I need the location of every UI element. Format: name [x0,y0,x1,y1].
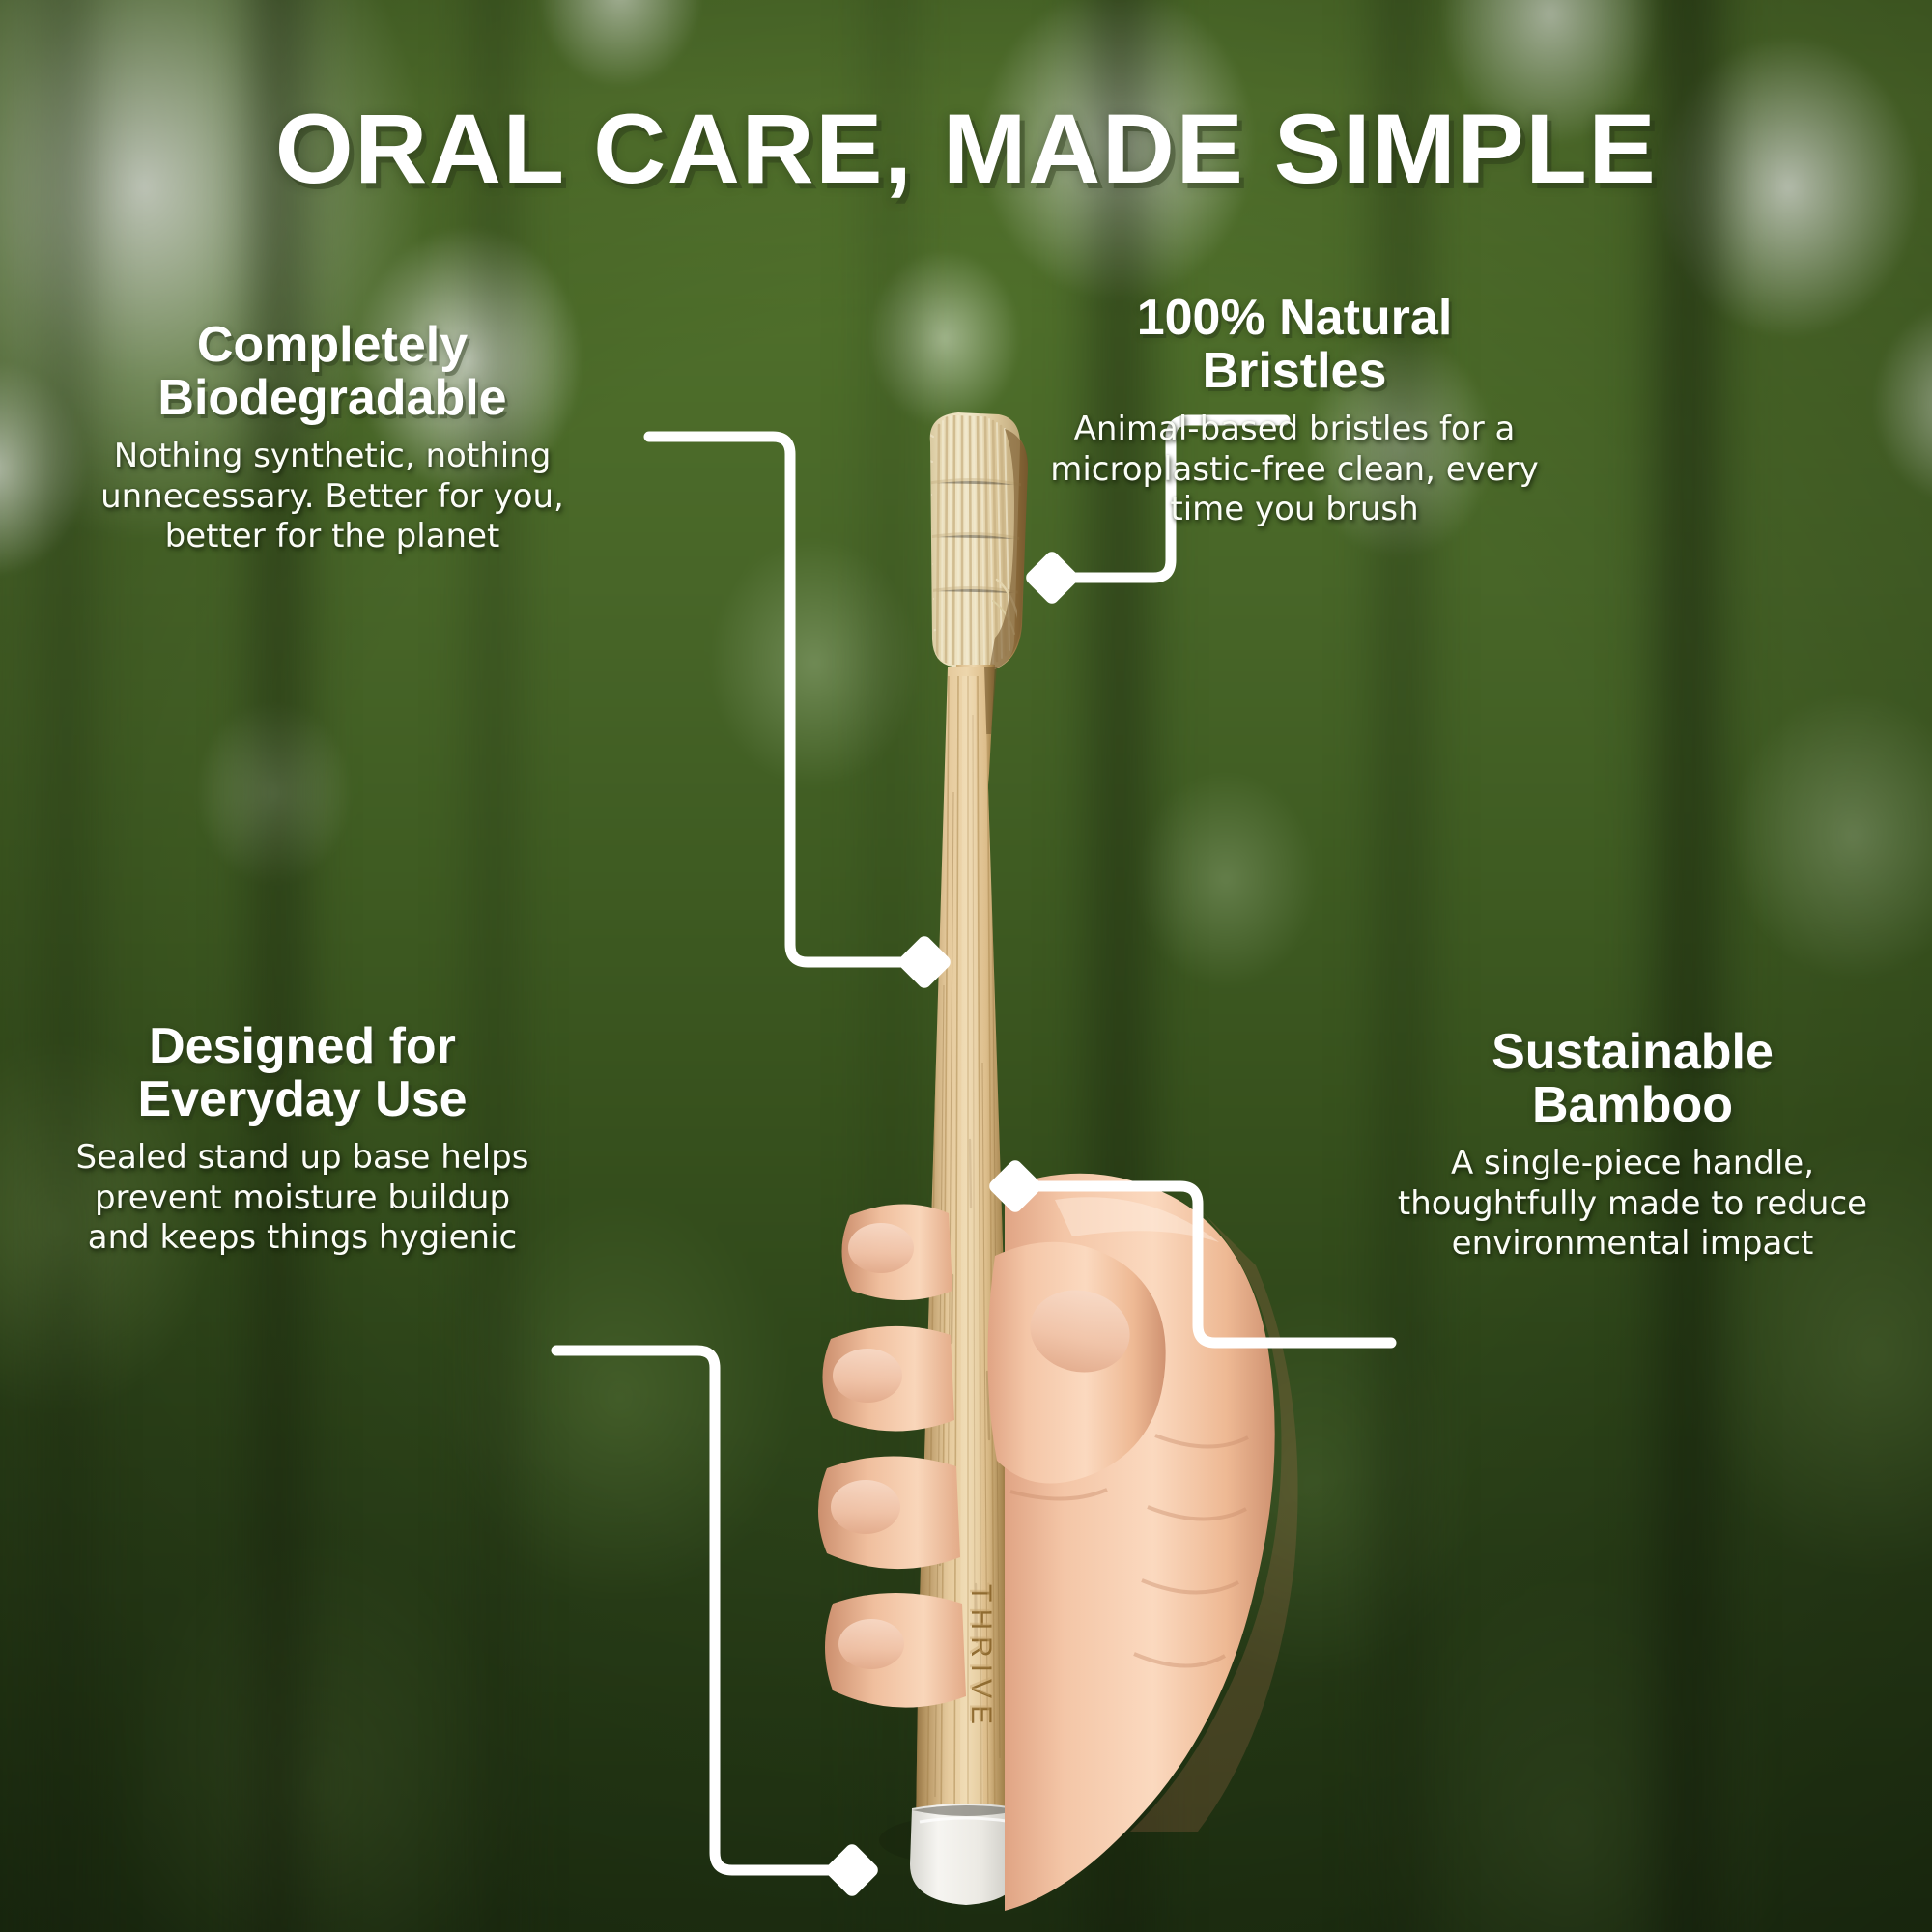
callout-heading-line: Completely [43,319,622,372]
callout-body: A single-piece handle, thoughtfully made… [1343,1144,1922,1264]
callout-heading-line: 100% Natural [985,292,1604,345]
infographic-canvas: THRIVE THRIVE [0,0,1932,1932]
callout-heading: 100% Natural Bristles [985,292,1604,398]
fingernail [838,1619,904,1669]
callout-body-line: and keeps things hygienic [8,1218,597,1258]
callout-body-line: A single-piece handle, [1343,1144,1922,1183]
callout-heading-line: Bristles [985,345,1604,398]
callout-body: Animal-based bristles for a microplastic… [985,410,1604,529]
callout-body: Sealed stand up base helps prevent moist… [8,1138,597,1258]
fingernail [831,1480,900,1534]
callout-body: Nothing synthetic, nothing unnecessary. … [43,437,622,556]
callout-body-line: time you brush [985,490,1604,529]
callout-heading: Designed for Everyday Use [8,1020,597,1126]
fingernail [848,1223,914,1273]
callout-body-line: better for the planet [43,517,622,556]
callout-bamboo: Sustainable Bamboo A single-piece handle… [1343,1026,1922,1264]
callout-heading: Sustainable Bamboo [1343,1026,1922,1132]
callout-body-line: Animal-based bristles for a [985,410,1604,449]
callout-bristles: 100% Natural Bristles Animal-based brist… [985,292,1604,530]
callout-body-line: environmental impact [1343,1224,1922,1264]
callout-body-line: Nothing synthetic, nothing [43,437,622,476]
hand-holding-brush [0,0,1932,1932]
callout-heading-line: Biodegradable [43,372,622,425]
fingernail [833,1349,902,1403]
callout-body-line: microplastic-free clean, every [985,450,1604,490]
callout-heading-line: Everyday Use [8,1073,597,1126]
callout-body-line: thoughtfully made to reduce [1343,1184,1922,1224]
callout-body-line: unnecessary. Better for you, [43,477,622,517]
callout-biodegradable: Completely Biodegradable Nothing synthet… [43,319,622,557]
callout-body-line: Sealed stand up base helps [8,1138,597,1178]
callout-heading-line: Designed for [8,1020,597,1073]
callout-everyday: Designed for Everyday Use Sealed stand u… [8,1020,597,1259]
callout-heading-line: Bamboo [1343,1079,1922,1132]
callout-heading: Completely Biodegradable [43,319,622,425]
callout-heading-line: Sustainable [1343,1026,1922,1079]
page-title: ORAL CARE, MADE SIMPLE [0,93,1932,206]
callout-body-line: prevent moisture buildup [8,1179,597,1218]
